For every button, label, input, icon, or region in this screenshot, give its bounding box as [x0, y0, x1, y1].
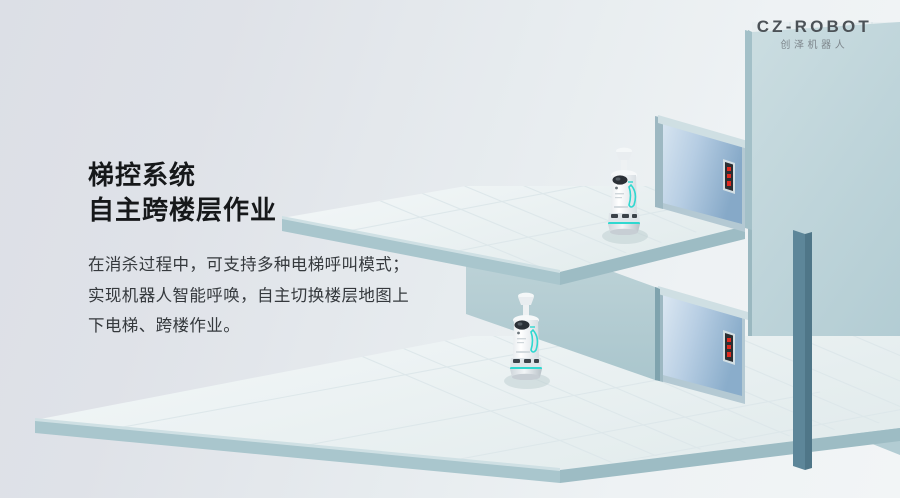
lower-floor-slab: [10, 330, 900, 498]
headline-line-1: 梯控系统: [88, 158, 448, 193]
copy-block: 梯控系统 自主跨楼层作业 在消杀过程中，可支持多种电梯呼叫模式；实现机器人智能呼…: [88, 158, 448, 342]
right-floor-wing: [745, 186, 900, 278]
corner-pillar: [793, 230, 812, 470]
elevator-call-panel-lower[interactable]: [723, 330, 735, 365]
disinfection-robot-upper: [598, 143, 650, 235]
upper-shaft-wall: [745, 30, 752, 230]
elevator-door-upper[interactable]: [655, 115, 748, 232]
body-paragraph: 在消杀过程中，可支持多种电梯呼叫模式；实现机器人智能呼唤，自主切换楼层地图上下电…: [88, 250, 423, 342]
brand-logo: CZ-ROBOT 创泽机器人: [757, 18, 872, 51]
elevator-shaft-wall: [748, 10, 900, 455]
headline-line-2: 自主跨楼层作业: [88, 193, 448, 228]
elevator-call-panel-upper[interactable]: [723, 159, 735, 194]
mid-wall-partition: [466, 218, 660, 381]
brand-wordmark: CZ-ROBOT: [757, 18, 872, 35]
slide-root: CZ-ROBOT 创泽机器人 梯控系统 自主跨楼层作业 在消杀过程中，可支持多种…: [0, 0, 900, 498]
robot-screen: [515, 320, 530, 329]
brand-sub-text: 创泽机器人: [757, 41, 872, 51]
robot-screen: [613, 175, 628, 184]
elevator-door-lower[interactable]: [655, 286, 748, 404]
page-title: 梯控系统 自主跨楼层作业: [88, 158, 448, 228]
disinfection-robot-lower: [500, 288, 552, 380]
